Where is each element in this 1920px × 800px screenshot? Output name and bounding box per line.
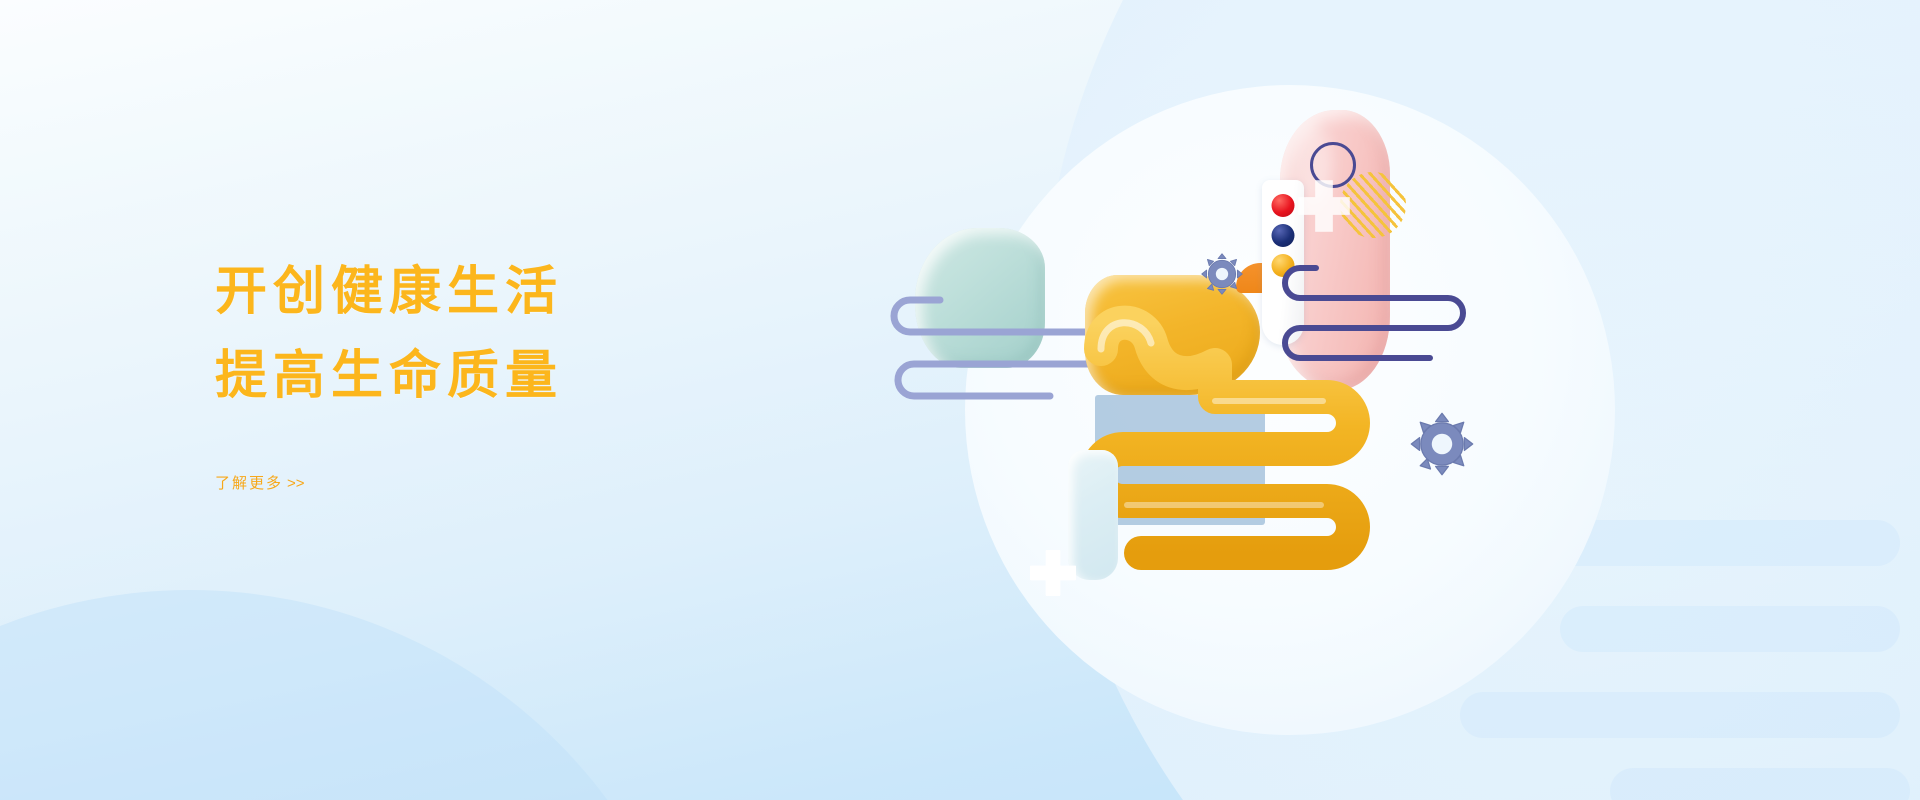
page-title: 开创健康生活 提高生命质量 <box>215 250 835 418</box>
learn-more-link[interactable]: 了解更多>> <box>215 472 305 493</box>
headline-line-2: 提高生命质量 <box>215 347 563 405</box>
learn-more-label: 了解更多 <box>215 475 283 492</box>
pill-red-icon <box>1272 194 1295 217</box>
digestive-system-illustration <box>880 60 1700 760</box>
background-arc-left <box>0 590 710 800</box>
hero-banner: 开创健康生活 提高生命质量 了解更多>> <box>0 0 1920 800</box>
pill-navy-icon <box>1272 224 1295 247</box>
headline-line-1: 开创健康生活 <box>215 263 563 321</box>
bottle-shape <box>1068 450 1118 580</box>
hero-copy: 开创健康生活 提高生命质量 了解更多>> <box>215 250 835 493</box>
gear-small-icon <box>1200 252 1244 296</box>
chevron-right-icon: >> <box>287 475 305 492</box>
navy-squiggle-icon <box>1280 260 1470 365</box>
gear-large-icon <box>1410 412 1474 476</box>
